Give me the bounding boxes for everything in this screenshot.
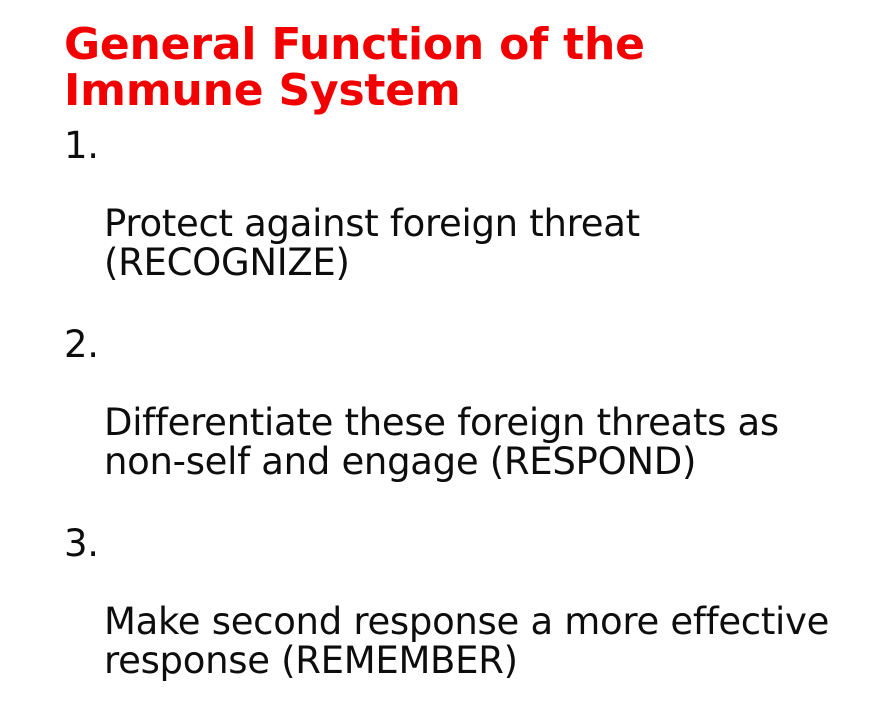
list-item: 2. Differentiate these foreign threats a…	[64, 325, 854, 520]
list-item-number: 1.	[64, 126, 104, 165]
slide-body-list: 1. Protect against foreign threat (RECOG…	[64, 126, 854, 723]
list-item-text: Protect against foreign threat (RECOGNIZ…	[104, 204, 854, 282]
slide-canvas: General Function of the Immune System 1.…	[0, 0, 880, 495]
slide-title: General Function of the Immune System	[64, 22, 824, 114]
list-item: 3. Make second response a more effective…	[64, 524, 854, 719]
list-item-number: 3.	[64, 524, 104, 563]
list-item-text: Differentiate these foreign threats as n…	[104, 403, 854, 481]
list-item-text: Make second response a more effective re…	[104, 602, 854, 680]
list-item: 1. Protect against foreign threat (RECOG…	[64, 126, 854, 321]
list-item-number: 2.	[64, 325, 104, 364]
